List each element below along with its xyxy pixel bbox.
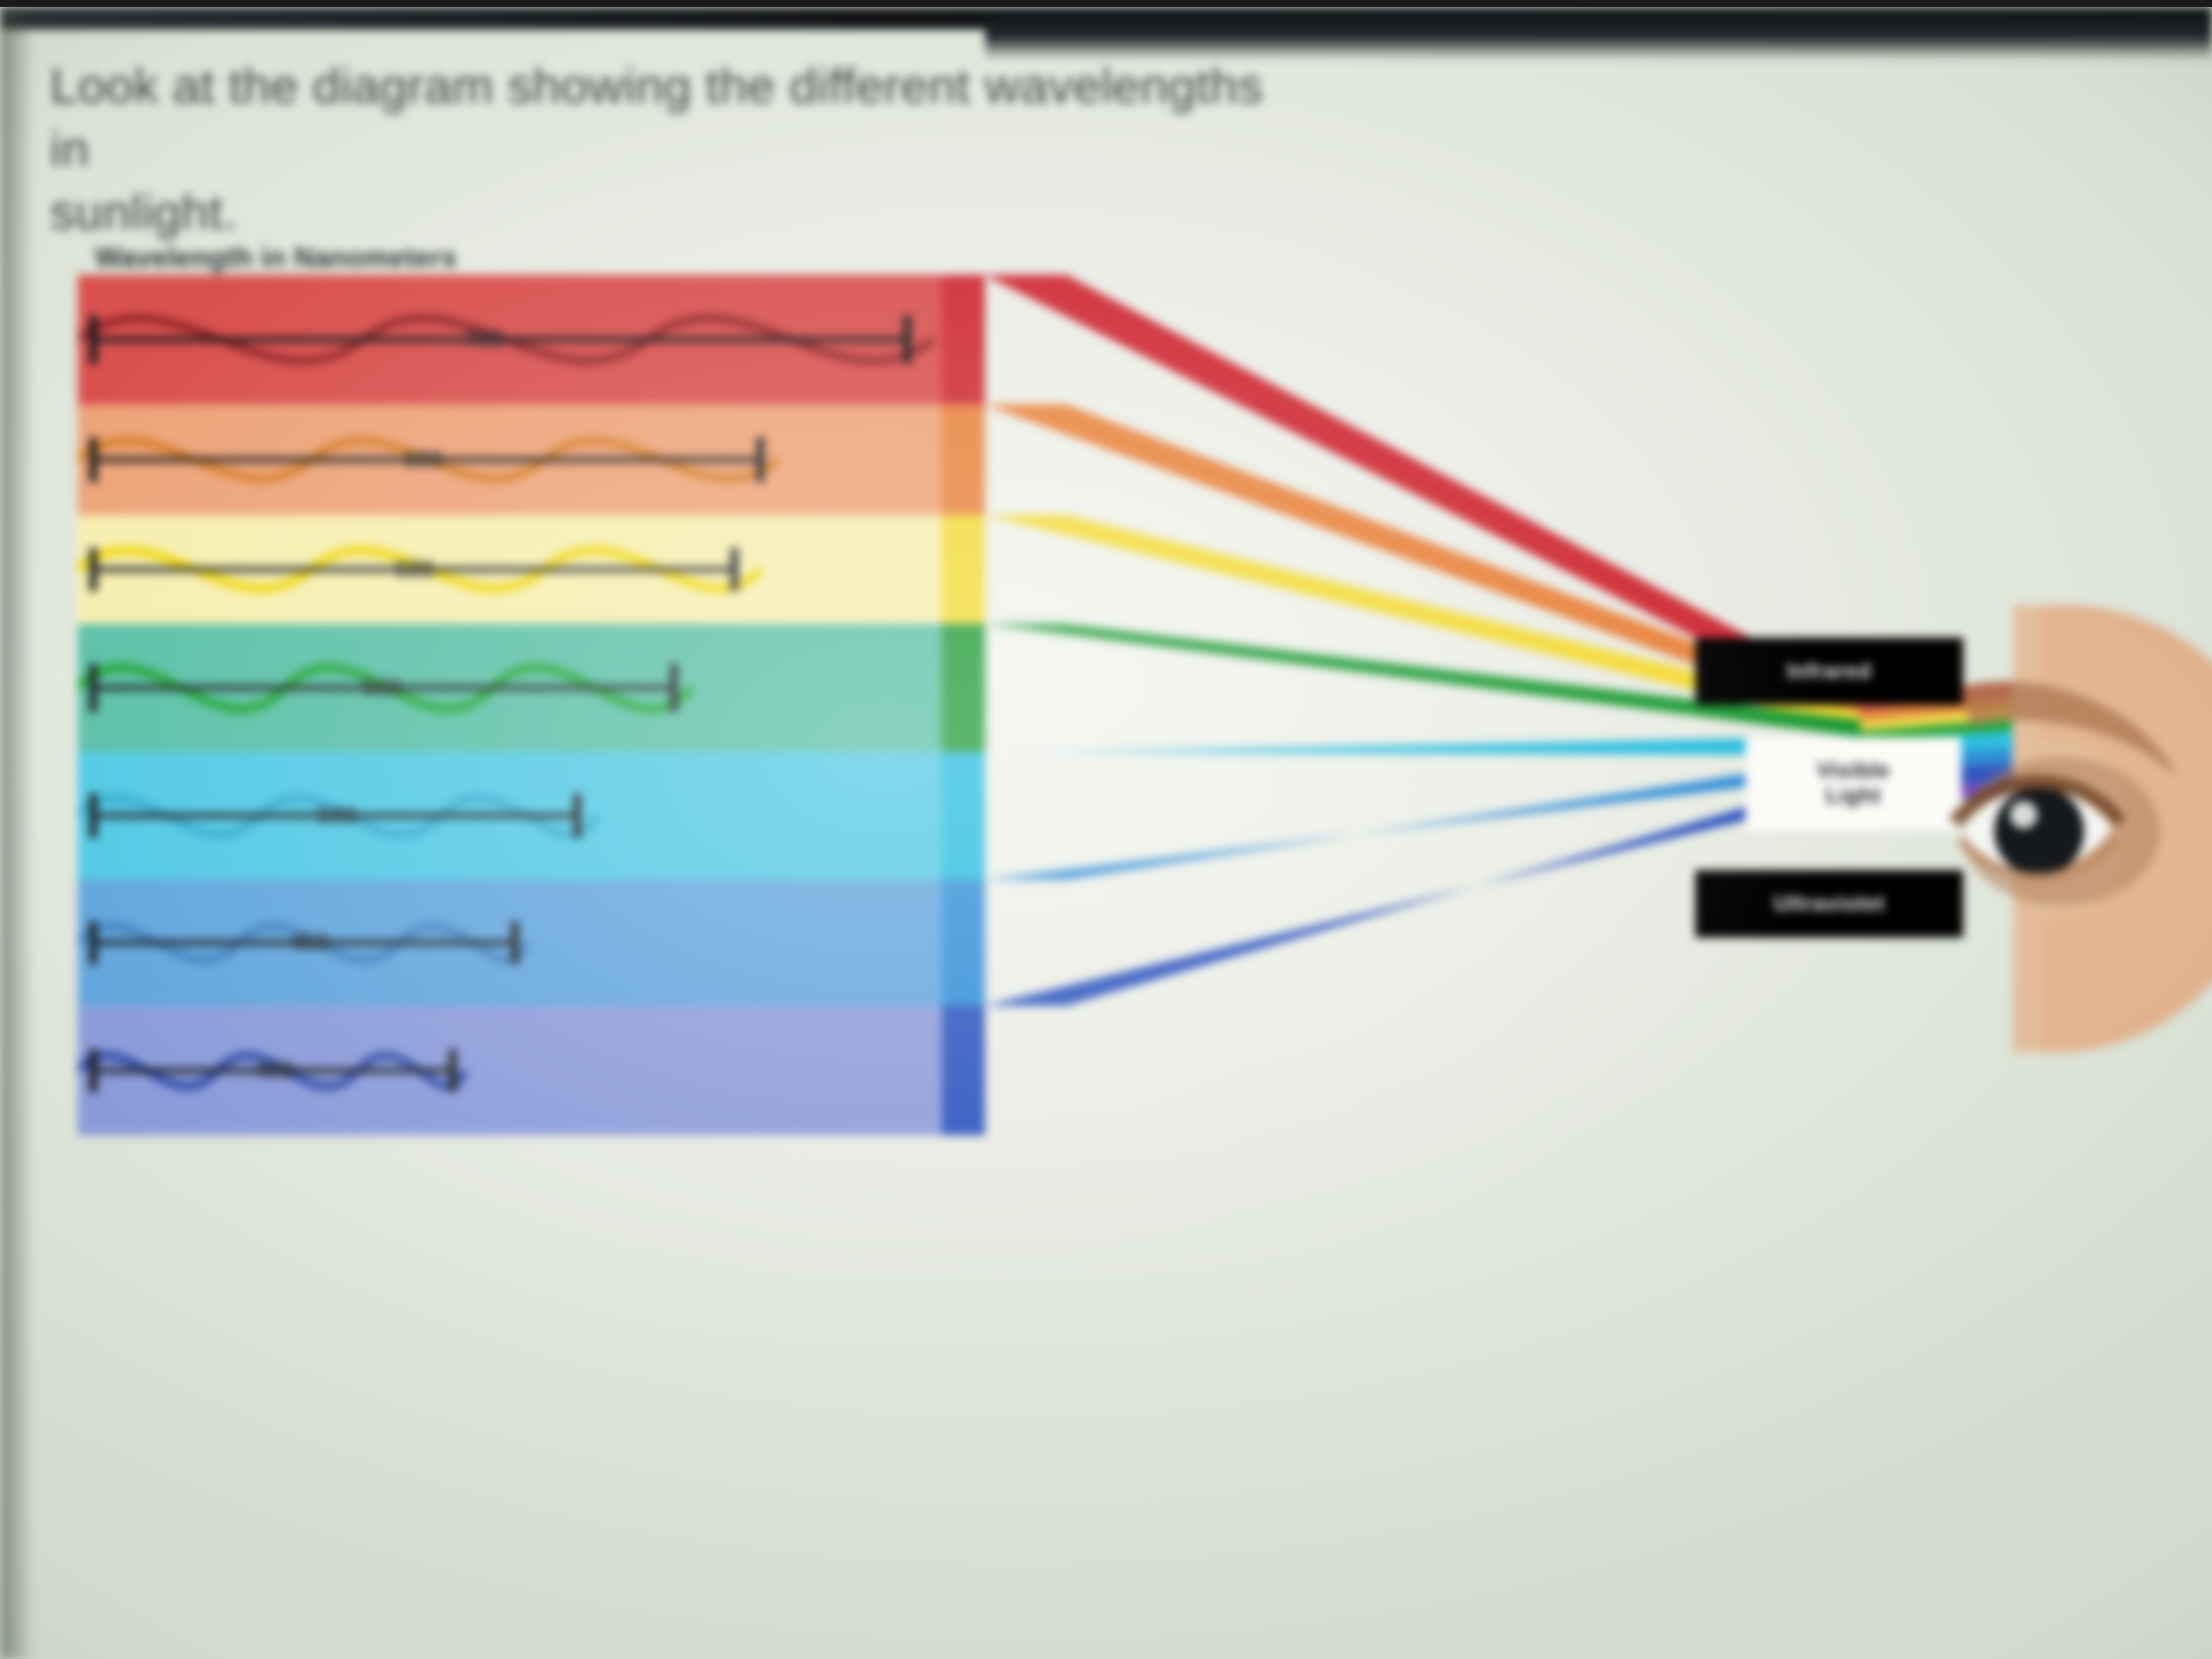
band-blue: 450: [78, 880, 985, 1006]
wavelength-label-cyan: 500: [317, 803, 356, 829]
wavelength-label-blue: 450: [289, 930, 328, 957]
screen-photo: Look at the diagram showing the differen…: [0, 7, 2212, 1659]
eye-icon: [1994, 786, 2084, 876]
monitor-bezel-shadow: [985, 7, 2212, 60]
monitor-bezel-left: [0, 7, 35, 1659]
question-line-1: Look at the diagram showing the differen…: [50, 55, 1312, 181]
band-red: 700: [78, 275, 985, 404]
double-headed-arrow-icon: [78, 624, 985, 752]
label-infrared-text: Infrared: [1787, 659, 1872, 684]
wavelength-label-green: 550: [362, 675, 401, 702]
spectrum-diagram: Wavelength in Nanometers 700: [78, 233, 2152, 1184]
wavelength-label-orange: 600: [404, 447, 442, 474]
double-headed-arrow-icon: [78, 275, 985, 404]
band-green: 550: [78, 624, 985, 752]
band-yellow: 580: [78, 515, 985, 624]
axis-title: Wavelength in Nanometers: [95, 242, 457, 274]
wavelength-label-yellow: 580: [395, 556, 434, 583]
label-visible-line-1: Visible: [1817, 759, 1890, 784]
label-ultraviolet-text: Ultraviolet: [1774, 892, 1885, 917]
beam-cyan: [984, 736, 1867, 755]
double-headed-arrow-icon: [78, 752, 985, 880]
band-orange: 600: [78, 404, 985, 515]
double-headed-arrow-icon: [78, 515, 985, 624]
wavelength-band-stack: 700 600: [78, 275, 985, 1156]
band-indigo: 400: [78, 1006, 985, 1135]
converging-light-beams: [984, 275, 2012, 1156]
wavelength-label-red: 700: [464, 327, 503, 353]
band-cyan: 500: [78, 752, 985, 880]
wavelength-label-indigo: 400: [255, 1058, 294, 1084]
double-headed-arrow-icon: [78, 880, 985, 1006]
label-visible-line-2: Light: [1817, 784, 1890, 809]
double-headed-arrow-icon: [78, 1006, 985, 1135]
double-headed-arrow-icon: [78, 404, 985, 515]
face-profile-icon: [1910, 605, 2212, 1054]
question-text: Look at the diagram showing the differen…: [50, 55, 1312, 245]
